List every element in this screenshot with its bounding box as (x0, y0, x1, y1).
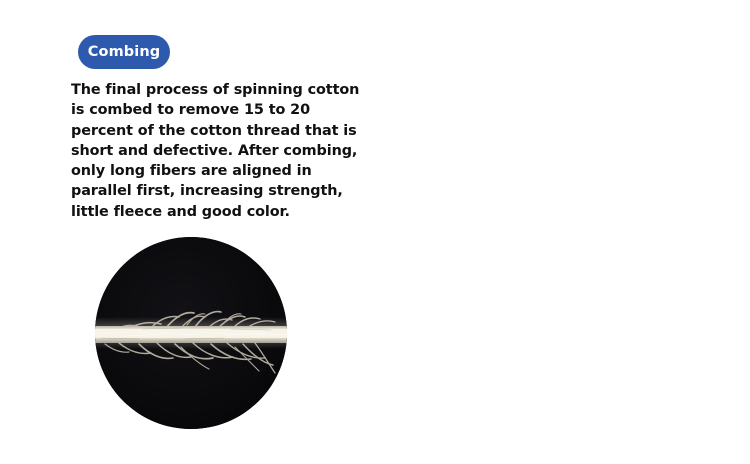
comparison-infographic: Combing The final process of spinning co… (0, 0, 750, 464)
description-combing: The final process of spinning cotton is … (71, 80, 363, 222)
badge-combing: Combing (78, 35, 170, 69)
panel-combing: Combing The final process of spinning co… (0, 0, 375, 464)
panel-general-comb: General comb Very ordinary cotton thread… (375, 0, 750, 464)
photo-combed-thread (95, 237, 287, 429)
